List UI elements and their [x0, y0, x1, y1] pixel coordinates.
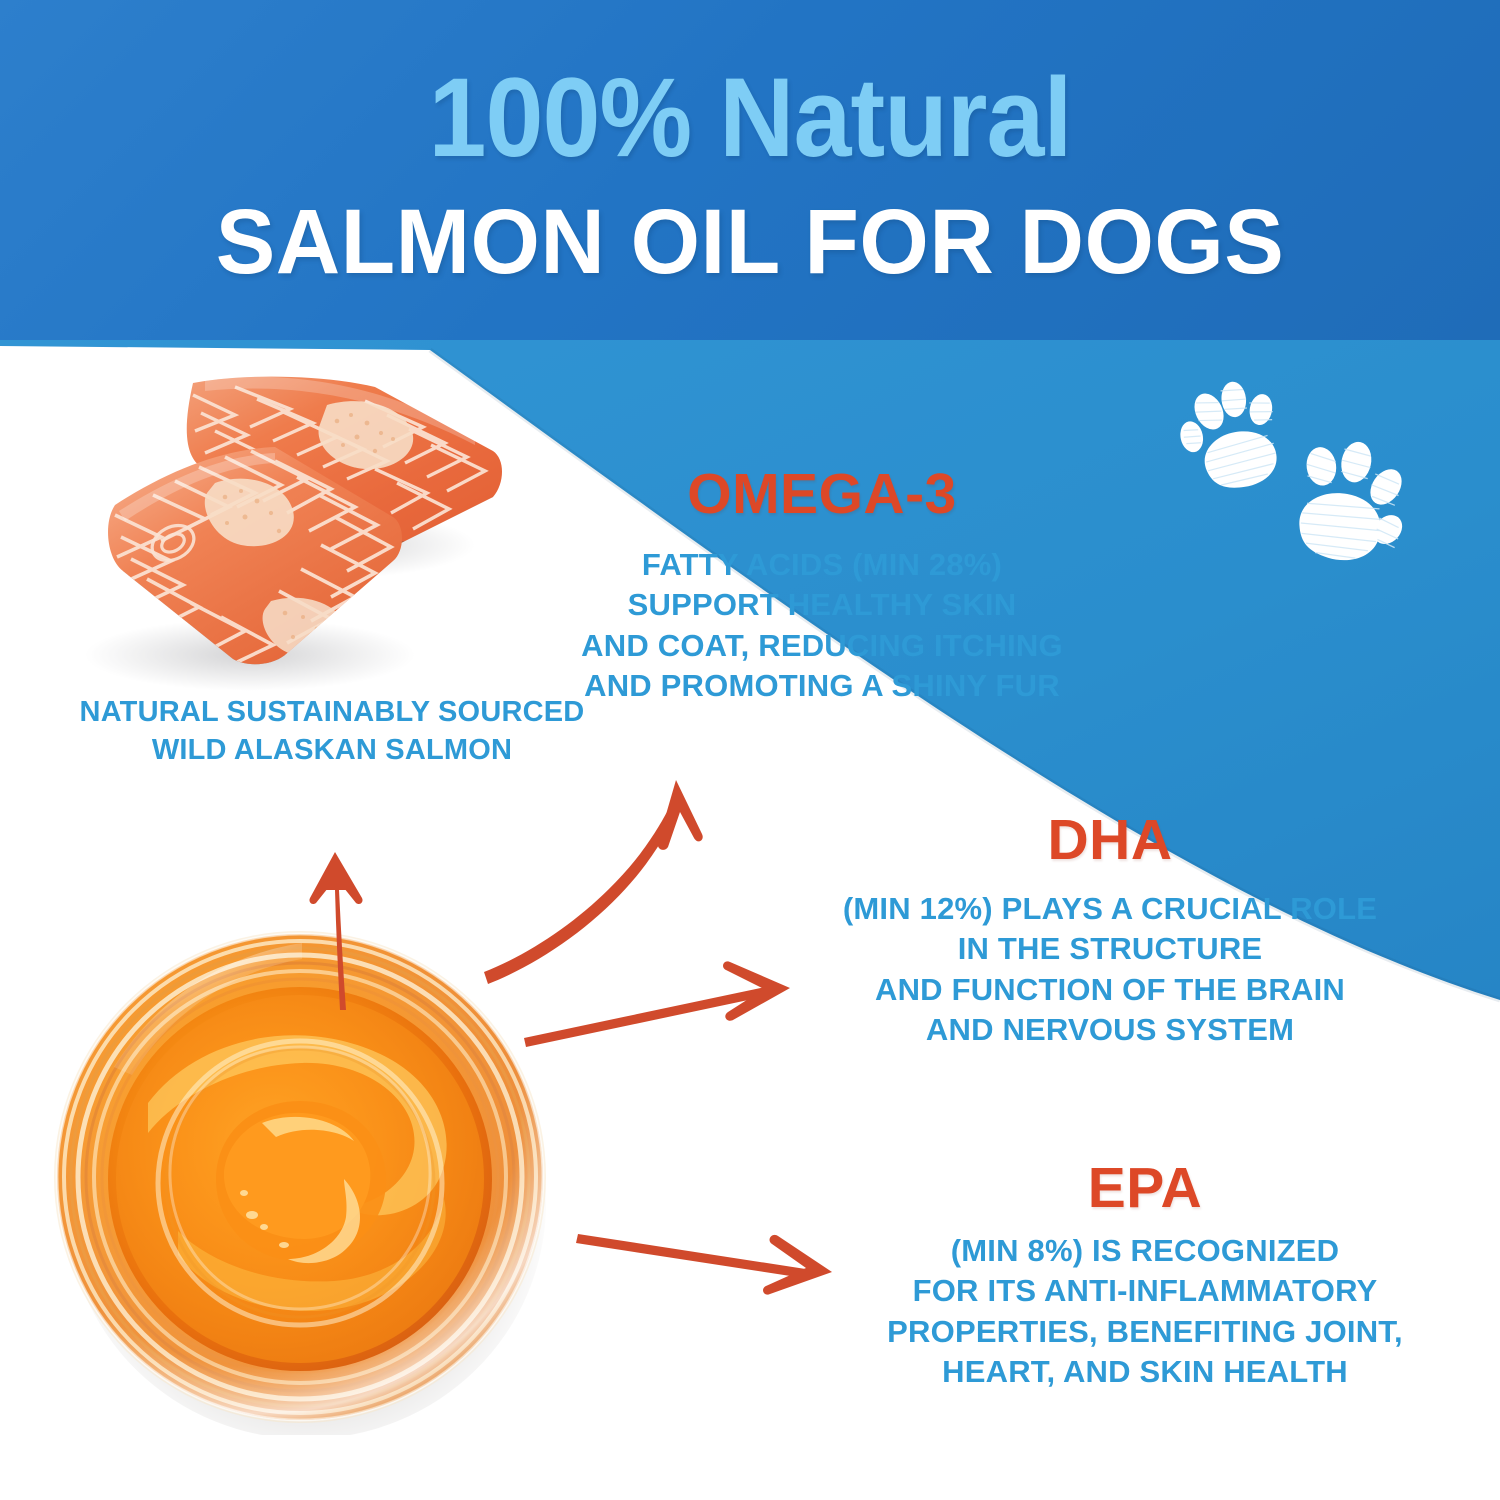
nutrient-line: IN THE STRUCTURE [790, 929, 1430, 969]
nutrient-block-epa: EPA (MIN 8%) IS RECOGNIZED FOR ITS ANTI-… [838, 1160, 1452, 1392]
headline-secondary: SALMON OIL FOR DOGS [23, 196, 1478, 288]
nutrient-title-omega-3: OMEGA-3 [404, 466, 1240, 523]
paw-print-icon [1290, 435, 1418, 571]
nutrient-line: PROPERTIES, BENEFITING JOINT, [838, 1312, 1452, 1352]
salmon-oil-bowl-photo [48, 925, 558, 1435]
headline-primary: 100% Natural [53, 62, 1448, 174]
arrow-to-epa [576, 1234, 832, 1295]
nutrient-title-epa: EPA [838, 1160, 1452, 1217]
nutrient-block-dha: DHA (MIN 12%) PLAYS A CRUCIAL ROLE IN TH… [790, 812, 1430, 1050]
nutrient-block-omega-3: OMEGA-3 FATTY ACIDS (MIN 28%) SUPPORT HE… [404, 466, 1240, 706]
nutrient-line: AND NERVOUS SYSTEM [790, 1010, 1430, 1050]
nutrient-body-epa: (MIN 8%) IS RECOGNIZED FOR ITS ANTI-INFL… [838, 1231, 1452, 1392]
nutrient-line: FATTY ACIDS (MIN 28%) [404, 545, 1240, 585]
nutrient-line: SUPPORT HEALTHY SKIN [404, 585, 1240, 625]
nutrient-line: FOR ITS ANTI-INFLAMMATORY [838, 1271, 1452, 1311]
arrow-to-dha [524, 961, 790, 1047]
nutrient-title-dha: DHA [790, 812, 1430, 869]
nutrient-line: HEART, AND SKIN HEALTH [838, 1352, 1452, 1392]
nutrient-line: AND COAT, REDUCING ITCHING [404, 626, 1240, 666]
nutrient-line: (MIN 12%) PLAYS A CRUCIAL ROLE [790, 889, 1430, 929]
nutrient-body-dha: (MIN 12%) PLAYS A CRUCIAL ROLE IN THE ST… [790, 889, 1430, 1050]
product-infographic: 100% Natural SALMON OIL FOR DOGS [0, 0, 1500, 1500]
nutrient-line: AND PROMOTING A SHINY FUR [404, 666, 1240, 706]
nutrient-line: AND FUNCTION OF THE BRAIN [790, 970, 1430, 1010]
header-banner: 100% Natural SALMON OIL FOR DOGS [0, 0, 1500, 346]
nutrient-body-omega-3: FATTY ACIDS (MIN 28%) SUPPORT HEALTHY SK… [404, 545, 1240, 706]
nutrient-line: (MIN 8%) IS RECOGNIZED [838, 1231, 1452, 1271]
